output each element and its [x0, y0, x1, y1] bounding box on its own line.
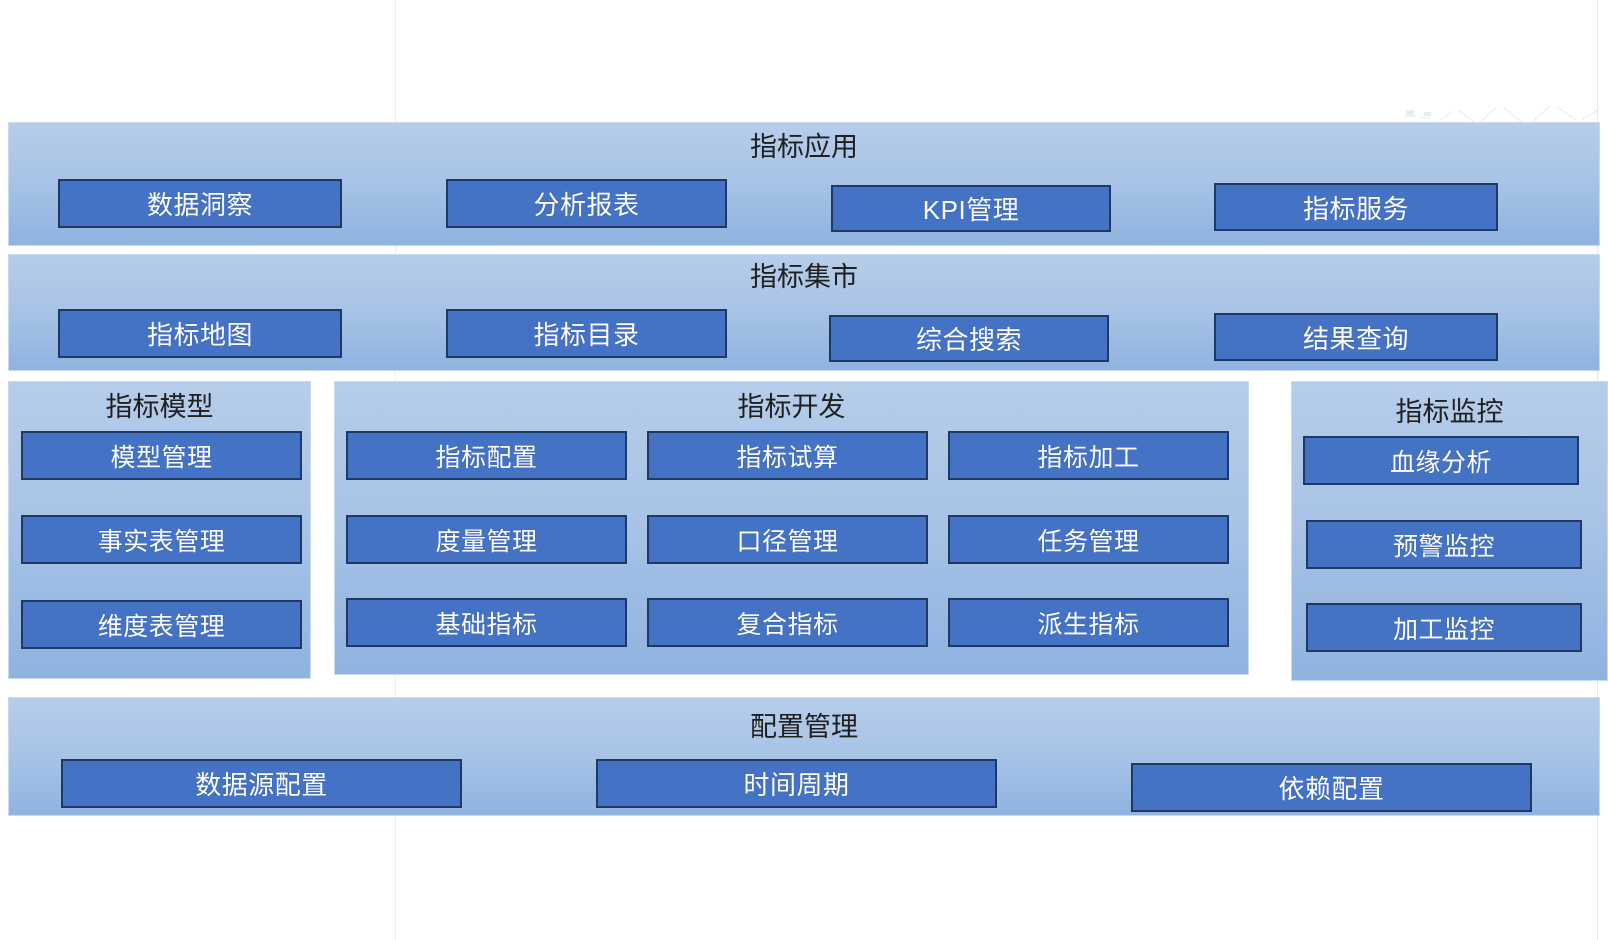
button-data-insight[interactable]: 数据洞察: [58, 179, 342, 228]
button-basic-indicator[interactable]: 基础指标: [346, 598, 627, 647]
button-analysis-report[interactable]: 分析报表: [446, 179, 727, 228]
section-indicator-development: 指标开发 指标配置 指标试算 指标加工 度量管理 口径管理 任务管理 基础指标 …: [334, 381, 1249, 675]
button-indicator-service[interactable]: 指标服务: [1214, 183, 1498, 231]
button-fact-table-management[interactable]: 事实表管理: [21, 515, 302, 564]
button-caliber-management[interactable]: 口径管理: [647, 515, 928, 564]
button-dependency-configuration[interactable]: 依赖配置: [1131, 763, 1532, 812]
button-processing-monitoring[interactable]: 加工监控: [1306, 603, 1582, 652]
button-composite-indicator[interactable]: 复合指标: [647, 598, 928, 647]
section-title-indicator-application: 指标应用: [9, 132, 1599, 162]
button-indicator-trial-calculation[interactable]: 指标试算: [647, 431, 928, 480]
section-indicator-model: 指标模型 模型管理 事实表管理 维度表管理: [8, 381, 311, 679]
button-kpi-management[interactable]: KPI管理: [831, 185, 1111, 232]
section-indicator-application: 指标应用 数据洞察 分析报表 KPI管理 指标服务: [8, 122, 1600, 246]
button-derived-indicator[interactable]: 派生指标: [948, 598, 1229, 647]
section-indicator-monitoring: 指标监控 血缘分析 预警监控 加工监控: [1291, 381, 1608, 681]
section-title-indicator-mart: 指标集市: [9, 262, 1599, 292]
button-indicator-map[interactable]: 指标地图: [58, 309, 342, 358]
section-title-configuration-management: 配置管理: [9, 712, 1599, 742]
button-comprehensive-search[interactable]: 综合搜索: [829, 315, 1109, 362]
section-configuration-management: 配置管理 数据源配置 时间周期 依赖配置: [8, 697, 1600, 816]
section-title-indicator-development: 指标开发: [335, 392, 1248, 422]
button-model-management[interactable]: 模型管理: [21, 431, 302, 480]
button-measure-management[interactable]: 度量管理: [346, 515, 627, 564]
button-alert-monitoring[interactable]: 预警监控: [1306, 520, 1582, 569]
button-indicator-processing[interactable]: 指标加工: [948, 431, 1229, 480]
diagram-canvas: 指标应用 数据洞察 分析报表 KPI管理 指标服务 指标集市 指标地图 指标目录…: [0, 0, 1608, 940]
button-indicator-configuration[interactable]: 指标配置: [346, 431, 627, 480]
button-indicator-catalog[interactable]: 指标目录: [446, 309, 727, 358]
button-task-management[interactable]: 任务管理: [948, 515, 1229, 564]
button-result-query[interactable]: 结果查询: [1214, 313, 1498, 361]
button-time-period[interactable]: 时间周期: [596, 759, 997, 808]
section-indicator-mart: 指标集市 指标地图 指标目录 综合搜索 结果查询: [8, 254, 1600, 371]
section-title-indicator-model: 指标模型: [9, 392, 310, 422]
section-title-indicator-monitoring: 指标监控: [1292, 397, 1607, 427]
button-lineage-analysis[interactable]: 血缘分析: [1303, 436, 1579, 485]
button-dimension-table-management[interactable]: 维度表管理: [21, 600, 302, 649]
button-datasource-configuration[interactable]: 数据源配置: [61, 759, 462, 808]
